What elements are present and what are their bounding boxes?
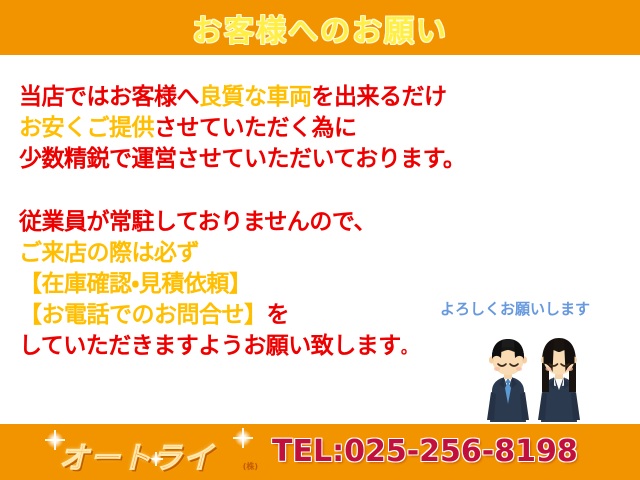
text-segment: していただきますようお願い致します [19, 333, 401, 359]
telephone-number[interactable]: TEL:025-256-8198 [272, 434, 578, 469]
paragraph-1: 当店ではお客様へ良質な車両を出来るだけ お安くご提供させていただく為に 少数精鋭… [19, 82, 465, 175]
paragraph-1-line-1: 当店ではお客様へ良質な車両を出来るだけ [19, 82, 465, 113]
text-segment: 【在庫確認・見積依頼】 [19, 271, 251, 297]
bowing-businessman-icon [487, 339, 529, 422]
paragraph-1-line-3: 少数精鋭で運営させていただいております。 [19, 144, 465, 175]
text-segment: 従業員が常駐しておりませんので、 [19, 209, 376, 235]
body-area: 当店ではお客様へ良質な車両を出来るだけ お安くご提供させていただく為に 少数精鋭… [0, 55, 640, 424]
paragraph-2-line-4: 【お電話でのお問合せ】を [19, 300, 416, 331]
text-segment: させていただく為に [154, 115, 357, 141]
page-title: お客様へのお願い [0, 0, 640, 55]
company-logo[interactable]: オートライ (株) [45, 428, 260, 474]
illustration-block: よろしくお願いします [432, 298, 632, 424]
text-segment: を [267, 302, 290, 328]
paragraph-2-line-5: していただきますようお願い致します。 [19, 331, 416, 363]
bowing-people-illustration [480, 328, 590, 424]
text-segment: 良質な [199, 84, 267, 110]
text-segment: お安くご提供 [19, 115, 154, 141]
logo-text: オートライ [59, 433, 214, 477]
text-segment: を出来るだけ [312, 84, 447, 110]
text-segment: ご来店の際は必ず [19, 240, 199, 266]
text-segment: 。 [401, 338, 417, 357]
advertisement-banner: お客様へのお願い 当店ではお客様へ良質な車両を出来るだけ お安くご提供させていた… [0, 0, 640, 480]
paragraph-2: 従業員が常駐しておりませんので、 ご来店の際は必ず 【在庫確認・見積依頼】 【お… [19, 207, 416, 363]
text-segment: 【お電話でのお問合せ】 [19, 302, 267, 328]
paragraph-2-line-3: 【在庫確認・見積依頼】 [19, 269, 416, 300]
text-segment: 少数精鋭で運営させていただいております。 [19, 146, 465, 172]
illustration-caption: よろしくお願いします [440, 298, 590, 319]
paragraph-2-line-1: 従業員が常駐しておりませんので、 [19, 207, 416, 238]
text-segment: 車両 [267, 84, 312, 110]
text-segment: 当店ではお客様へ [19, 84, 199, 110]
sparkle-icon [233, 428, 253, 448]
paragraph-2-line-2: ご来店の際は必ず [19, 238, 416, 269]
paragraph-1-line-2: お安くご提供させていただく為に [19, 113, 465, 144]
bowing-businesswoman-icon [538, 338, 580, 422]
logo-corporate-mark: (株) [243, 461, 258, 472]
